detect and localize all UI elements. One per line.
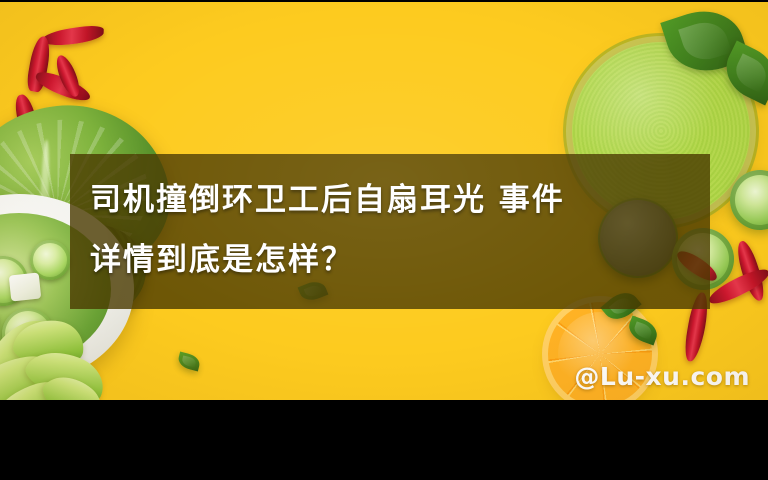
image-canvas: 司机撞倒环卫工后自扇耳光 事件 详情到底是怎样？ @Lu-xu.com [0,0,768,480]
celery-bunch [0,320,172,400]
letterbox-bottom [0,400,768,480]
headline-line-2: 详情到底是怎样？ [90,230,710,290]
headline-line-1: 司机撞倒环卫工后自扇耳光 事件 [90,170,710,230]
headline-overlay: 司机撞倒环卫工后自扇耳光 事件 详情到底是怎样？ [70,154,710,309]
letterbox-top [0,0,768,2]
feta-cube [9,273,42,302]
watermark-text: @Lu-xu.com [574,362,750,391]
photo-background: 司机撞倒环卫工后自扇耳光 事件 详情到底是怎样？ @Lu-xu.com [0,2,768,400]
